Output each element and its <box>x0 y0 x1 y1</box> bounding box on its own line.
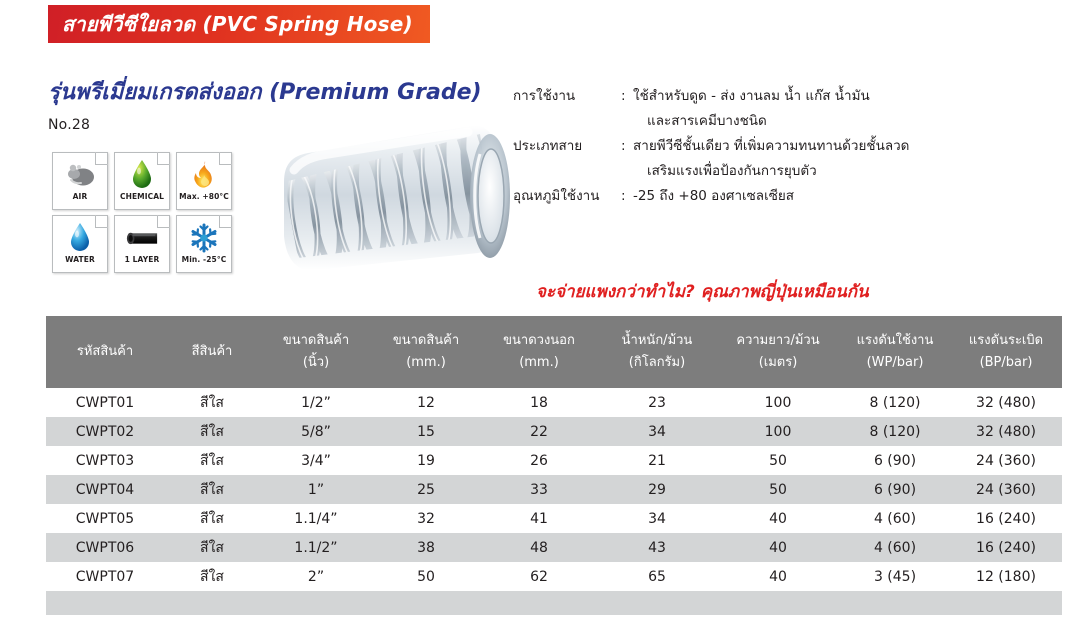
badge-chemical: CHEMICAL <box>114 152 170 210</box>
table-row: CWPT02 สีใส 5/8” 15 22 34 100 8 (120) 32… <box>46 417 1062 446</box>
flame-icon <box>187 158 221 192</box>
cell-color: สีใส <box>164 388 260 417</box>
cell-size-mm: 32 <box>372 504 480 533</box>
cell-size-inch: 1.1/2” <box>260 533 372 562</box>
column-header-weight-per-roll: น้ำหนัก/ม้วน (กิโลกรัม) <box>598 316 716 388</box>
column-header-working-pressure: แรงดันใช้งาน (WP/bar) <box>840 316 950 388</box>
cell-working-pressure: 8 (120) <box>840 388 950 417</box>
cell-working-pressure: 8 (120) <box>840 417 950 446</box>
badge-min-temperature: Min. -25°C <box>176 215 232 273</box>
column-header-size-mm: ขนาดสินค้า (mm.) <box>372 316 480 388</box>
cell-working-pressure: 4 (60) <box>840 533 950 562</box>
cell-color: สีใส <box>164 417 260 446</box>
spec-row-application: การใช้งาน : ใช้สำหรับดูด - ส่ง งานลม น้ำ… <box>513 84 1053 134</box>
cell-length: 50 <box>716 475 840 504</box>
badge-label: 1 LAYER <box>125 256 160 264</box>
cell-size-mm: 38 <box>372 533 480 562</box>
spec-value: สายพีวีซีชั้นเดียว ที่เพิ่มความทนทานด้วย… <box>633 134 1053 184</box>
cell-weight: 34 <box>598 504 716 533</box>
water-drop-icon <box>63 221 97 255</box>
cell-color: สีใส <box>164 533 260 562</box>
cell-weight: 43 <box>598 533 716 562</box>
cell-length: 100 <box>716 417 840 446</box>
cell-outer-diameter: 33 <box>480 475 598 504</box>
column-header-burst-pressure: แรงดันระเบิด (BP/bar) <box>950 316 1062 388</box>
cell-burst-pressure: 12 (180) <box>950 562 1062 591</box>
model-number: No.28 <box>48 117 90 133</box>
column-header-color: สีสินค้า <box>164 316 260 388</box>
cell-size-mm: 25 <box>372 475 480 504</box>
spec-row-hose-type: ประเภทสาย : สายพีวีซีชั้นเดียว ที่เพิ่มค… <box>513 134 1053 184</box>
product-image <box>232 108 532 290</box>
cell-burst-pressure: 32 (480) <box>950 417 1062 446</box>
cell-size-inch: 1.1/4” <box>260 504 372 533</box>
cell-size-inch: 3/4” <box>260 446 372 475</box>
cell-burst-pressure: 32 (480) <box>950 388 1062 417</box>
cell-size-inch: 1/2” <box>260 388 372 417</box>
badge-label: WATER <box>65 256 95 264</box>
cell-size-mm: 50 <box>372 562 480 591</box>
snowflake-icon <box>187 221 221 255</box>
spec-value: ใช้สำหรับดูด - ส่ง งานลม น้ำ แก๊ส น้ำมัน… <box>633 84 1053 134</box>
cell-weight: 21 <box>598 446 716 475</box>
table-row: CWPT06 สีใส 1.1/2” 38 48 43 40 4 (60) 16… <box>46 533 1062 562</box>
badge-label: CHEMICAL <box>120 193 164 201</box>
spec-colon: : <box>621 134 633 159</box>
spec-row-temperature: อุณหภูมิใช้งาน : -25 ถึง +80 องศาเซลเซีย… <box>513 184 1053 209</box>
badge-label: AIR <box>73 193 88 201</box>
spec-value-line2: เสริมแรงเพื่อป้องกันการยุบตัว <box>633 159 1053 184</box>
spec-colon: : <box>621 84 633 109</box>
cell-product-code: CWPT05 <box>46 504 164 533</box>
cell-working-pressure: 3 (45) <box>840 562 950 591</box>
spec-colon: : <box>621 184 633 209</box>
cell-length: 40 <box>716 533 840 562</box>
subtitle: รุ่นพรีเมี่ยมเกรดส่งออก (Premium Grade) <box>48 74 482 109</box>
badge-water: WATER <box>52 215 108 273</box>
table-row-partial <box>46 591 1062 615</box>
cell-burst-pressure: 16 (240) <box>950 533 1062 562</box>
hose-layer-icon <box>125 221 159 255</box>
cell-product-code: CWPT04 <box>46 475 164 504</box>
column-header-length-per-roll: ความยาว/ม้วน (เมตร) <box>716 316 840 388</box>
badge-layer-count: 1 LAYER <box>114 215 170 273</box>
cell-product-code: CWPT06 <box>46 533 164 562</box>
cell-length: 50 <box>716 446 840 475</box>
cell-size-inch: 1” <box>260 475 372 504</box>
spec-value-line1: สายพีวีซีชั้นเดียว ที่เพิ่มความทนทานด้วย… <box>633 138 909 154</box>
column-header-size-inch: ขนาดสินค้า (นิ้ว) <box>260 316 372 388</box>
table-row: CWPT05 สีใส 1.1/4” 32 41 34 40 4 (60) 16… <box>46 504 1062 533</box>
cell-working-pressure: 6 (90) <box>840 446 950 475</box>
cell-working-pressure: 6 (90) <box>840 475 950 504</box>
spec-label: อุณหภูมิใช้งาน <box>513 184 621 209</box>
cell-color: สีใส <box>164 446 260 475</box>
spec-value-line2: และสารเคมีบางชนิด <box>633 109 1053 134</box>
cell-outer-diameter: 26 <box>480 446 598 475</box>
title-banner: สายพีวีซีใยลวด (PVC Spring Hose) <box>48 5 430 43</box>
cell-outer-diameter: 18 <box>480 388 598 417</box>
cell-working-pressure: 4 (60) <box>840 504 950 533</box>
table-row: CWPT07 สีใส 2” 50 62 65 40 3 (45) 12 (18… <box>46 562 1062 591</box>
spec-value-line1: -25 ถึง +80 องศาเซลเซียส <box>633 188 794 204</box>
cell-outer-diameter: 62 <box>480 562 598 591</box>
cell-length: 40 <box>716 504 840 533</box>
column-header-product-code: รหัสสินค้า <box>46 316 164 388</box>
cell-product-code: CWPT02 <box>46 417 164 446</box>
badge-label: Max. +80°C <box>179 193 229 201</box>
column-header-outer-diameter: ขนาดวงนอก (mm.) <box>480 316 598 388</box>
chemical-drop-icon <box>125 158 159 192</box>
product-specification-table: รหัสสินค้า สีสินค้า ขนาดสินค้า (นิ้ว) ขน… <box>46 316 1062 615</box>
spec-value: -25 ถึง +80 องศาเซลเซียส <box>633 184 1053 209</box>
table-row: CWPT03 สีใส 3/4” 19 26 21 50 6 (90) 24 (… <box>46 446 1062 475</box>
cell-size-inch: 2” <box>260 562 372 591</box>
cell-size-inch: 5/8” <box>260 417 372 446</box>
cell-size-mm: 15 <box>372 417 480 446</box>
table-header-row: รหัสสินค้า สีสินค้า ขนาดสินค้า (นิ้ว) ขน… <box>46 316 1062 388</box>
badge-max-temperature: Max. +80°C <box>176 152 232 210</box>
specification-list: การใช้งาน : ใช้สำหรับดูด - ส่ง งานลม น้ำ… <box>513 84 1053 209</box>
cell-product-code: CWPT03 <box>46 446 164 475</box>
cell-color: สีใส <box>164 504 260 533</box>
spec-label: ประเภทสาย <box>513 134 621 159</box>
page-title: สายพีวีซีใยลวด (PVC Spring Hose) <box>62 8 413 40</box>
cell-outer-diameter: 48 <box>480 533 598 562</box>
cell-outer-diameter: 41 <box>480 504 598 533</box>
table-row: CWPT04 สีใส 1” 25 33 29 50 6 (90) 24 (36… <box>46 475 1062 504</box>
cell-burst-pressure: 24 (360) <box>950 475 1062 504</box>
spec-label: การใช้งาน <box>513 84 621 109</box>
cell-burst-pressure: 16 (240) <box>950 504 1062 533</box>
feature-badge-grid: AIR CHEMICAL <box>52 152 232 273</box>
cell-outer-diameter: 22 <box>480 417 598 446</box>
spec-value-line1: ใช้สำหรับดูด - ส่ง งานลม น้ำ แก๊ส น้ำมัน <box>633 88 870 104</box>
table-row: CWPT01 สีใส 1/2” 12 18 23 100 8 (120) 32… <box>46 388 1062 417</box>
promo-tagline: จะจ่ายแพงกว่าทำไม? คุณภาพญี่ปุ่นเหมือนกั… <box>536 278 869 305</box>
cell-product-code: CWPT01 <box>46 388 164 417</box>
cell-length: 100 <box>716 388 840 417</box>
cell-weight: 29 <box>598 475 716 504</box>
cell-weight: 34 <box>598 417 716 446</box>
cell-burst-pressure: 24 (360) <box>950 446 1062 475</box>
cell-weight: 23 <box>598 388 716 417</box>
air-icon <box>63 158 97 192</box>
cell-length: 40 <box>716 562 840 591</box>
badge-label: Min. -25°C <box>182 256 227 264</box>
cell-weight: 65 <box>598 562 716 591</box>
cell-size-mm: 19 <box>372 446 480 475</box>
cell-size-mm: 12 <box>372 388 480 417</box>
cell-product-code: CWPT07 <box>46 562 164 591</box>
cell-color: สีใส <box>164 562 260 591</box>
cell-color: สีใส <box>164 475 260 504</box>
badge-air: AIR <box>52 152 108 210</box>
